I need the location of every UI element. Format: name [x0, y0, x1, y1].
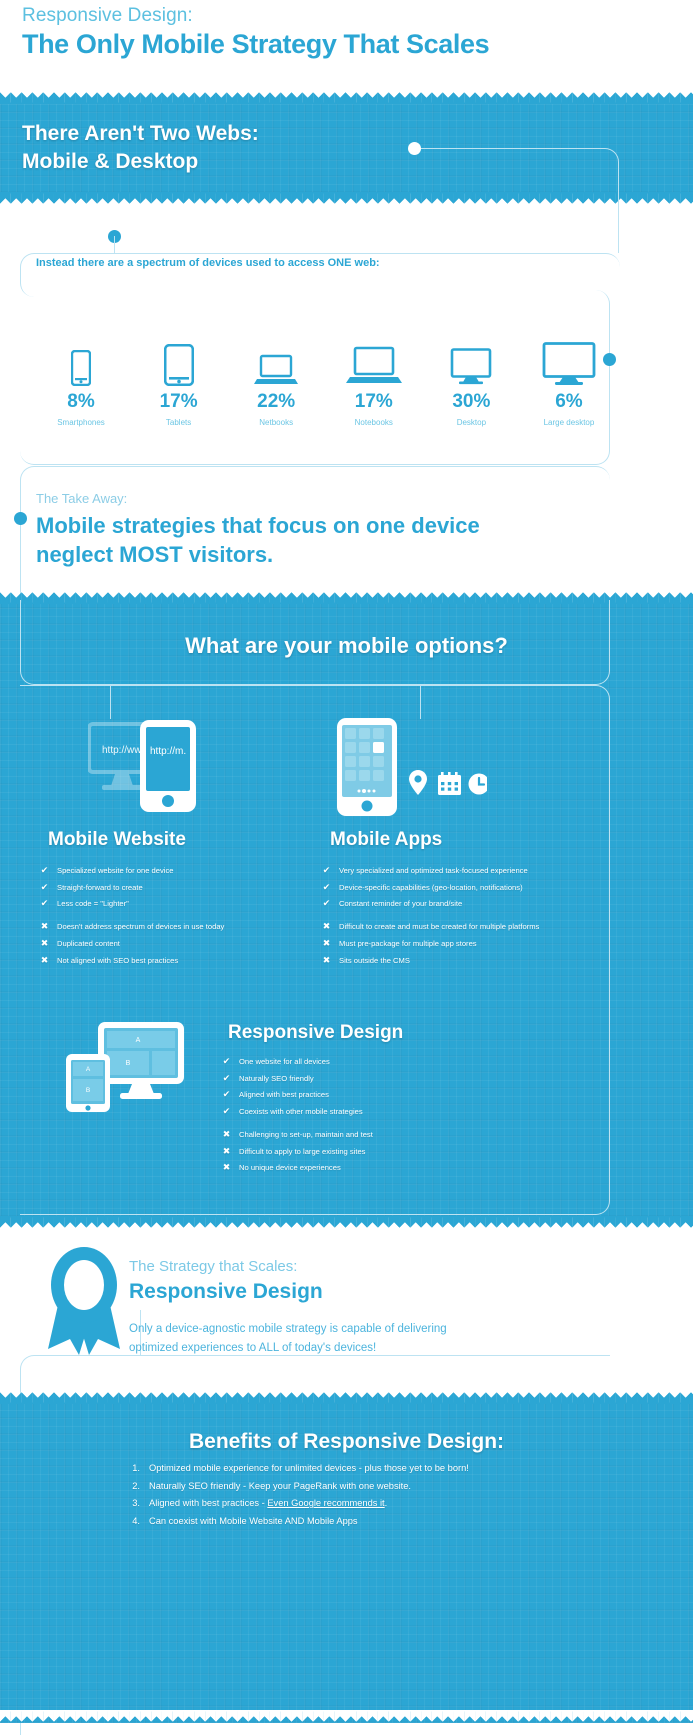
check-icon: ✔ — [222, 1057, 231, 1066]
device-item: 17% Tablets — [133, 338, 225, 427]
device-percent: 17% — [133, 391, 225, 413]
mobile-apps-title: Mobile Apps — [330, 829, 442, 851]
device-item: 22% Netbooks — [230, 338, 322, 427]
device-item: 30% Desktop — [425, 338, 517, 427]
mobile-apps-illustration — [337, 718, 487, 823]
zigzag-top-edge — [0, 1391, 693, 1404]
check-icon: ✔ — [222, 1074, 231, 1083]
list-text: Can coexist with Mobile Website AND Mobi… — [149, 1516, 358, 1528]
page-title: The Only Mobile Strategy That Scales — [22, 29, 489, 60]
strategy-body-line2: optimized experiences to ALL of today's … — [129, 1339, 559, 1358]
zigzag-top-edge — [0, 91, 693, 104]
pro-item: ✔Aligned with best practices — [222, 1090, 522, 1099]
cross-icon: ✖ — [322, 939, 331, 948]
strategy-kicker: The Strategy that Scales: — [129, 1258, 297, 1275]
tablet-icon — [133, 338, 225, 386]
pro-item: ✔Naturally SEO friendly — [222, 1074, 522, 1083]
desktop-icon — [425, 338, 517, 386]
con-item: ✖Not aligned with SEO best practices — [40, 956, 310, 965]
header: Responsive Design: The Only Mobile Strat… — [22, 5, 489, 60]
list-text: Naturally SEO friendly - Keep your PageR… — [149, 1481, 411, 1493]
cross-icon: ✖ — [322, 956, 331, 965]
mobile-apps-bullets: ✔Very specialized and optimized task-foc… — [322, 866, 622, 972]
mobile-website-illustration: http://www. http://m. — [88, 720, 238, 820]
benefits-heading: Benefits of Responsive Design: — [0, 1430, 693, 1454]
con-item: ✖Sits outside the CMS — [322, 956, 622, 965]
connector-dot-white-1 — [408, 142, 421, 155]
responsive-design-illustration: A B A B — [62, 1010, 207, 1135]
con-item: ✖No unique device experiences — [222, 1163, 522, 1172]
list-number: 4. — [128, 1516, 140, 1528]
svg-text:A: A — [86, 1066, 91, 1073]
notebook-icon — [328, 338, 420, 386]
svg-text:B: B — [86, 1087, 90, 1094]
list-item: 4. Can coexist with Mobile Website AND M… — [128, 1516, 588, 1528]
list-item: 2. Naturally SEO friendly - Keep your Pa… — [128, 1481, 588, 1493]
device-percent: 17% — [328, 391, 420, 413]
list-text: Optimized mobile experience for unlimite… — [149, 1463, 469, 1475]
device-item: 8% Smartphones — [35, 338, 127, 427]
pro-item: ✔Straight-forward to create — [40, 883, 310, 892]
two-webs-title-line2: Mobile & Desktop — [22, 148, 259, 176]
cross-icon: ✖ — [322, 922, 331, 931]
zigzag-bottom-edge-page — [0, 1710, 693, 1723]
instead-text: Instead there are a spectrum of devices … — [36, 257, 380, 269]
device-label: Smartphones — [35, 418, 127, 427]
pro-item: ✔Specialized website for one device — [40, 866, 310, 875]
list-text-wrap: Aligned with best practices - Even Googl… — [149, 1498, 387, 1510]
list-text: Aligned with best practices - — [149, 1498, 267, 1508]
connector-stub-1 — [114, 236, 115, 254]
con-item: ✖Doesn't address spectrum of devices in … — [40, 922, 310, 931]
list-number: 3. — [128, 1498, 140, 1510]
check-icon: ✔ — [322, 899, 331, 908]
device-label: Netbooks — [230, 418, 322, 427]
list-number: 2. — [128, 1481, 140, 1493]
takeaway-line2: neglect MOST visitors. — [36, 540, 480, 569]
pro-item: ✔Very specialized and optimized task-foc… — [322, 866, 622, 875]
device-percent: 30% — [425, 391, 517, 413]
con-item: ✖Challenging to set-up, maintain and tes… — [222, 1130, 522, 1139]
list-text-tail: . — [385, 1498, 388, 1508]
device-percent: 8% — [35, 391, 127, 413]
device-percent: 6% — [523, 391, 615, 413]
cross-icon: ✖ — [40, 922, 49, 931]
strategy-title: Responsive Design — [129, 1280, 323, 1304]
con-item: ✖Difficult to apply to large existing si… — [222, 1147, 522, 1156]
smartphone-icon — [35, 338, 127, 386]
check-icon: ✔ — [222, 1107, 231, 1116]
device-item: 6% Large desktop — [523, 338, 615, 427]
svg-text:B: B — [126, 1060, 131, 1067]
device-label: Desktop — [425, 418, 517, 427]
mobile-website-bullets: ✔Specialized website for one device ✔Str… — [40, 866, 310, 972]
cross-icon: ✖ — [222, 1163, 231, 1172]
cross-icon: ✖ — [222, 1130, 231, 1139]
pro-item: ✔Coexists with other mobile strategies — [222, 1107, 522, 1116]
header-kicker: Responsive Design: — [22, 5, 489, 27]
strategy-body-line1: Only a device-agnostic mobile strategy i… — [129, 1320, 559, 1339]
connector-path-upper — [414, 148, 619, 253]
list-item: 3. Aligned with best practices - Even Go… — [128, 1498, 588, 1510]
device-percent: 22% — [230, 391, 322, 413]
mobile-website-title: Mobile Website — [48, 829, 186, 851]
check-icon: ✔ — [222, 1090, 231, 1099]
benefits-list: 1. Optimized mobile experience for unlim… — [128, 1463, 588, 1533]
cross-icon: ✖ — [40, 956, 49, 965]
device-usage-chart: 8% Smartphones 17% Tablets 22% — [20, 338, 630, 427]
responsive-design-title: Responsive Design — [228, 1022, 403, 1044]
device-label: Notebooks — [328, 418, 420, 427]
connector-dot-blue-3 — [14, 512, 27, 525]
list-item: 1. Optimized mobile experience for unlim… — [128, 1463, 588, 1475]
check-icon: ✔ — [322, 883, 331, 892]
check-icon: ✔ — [322, 866, 331, 875]
google-recommends-link[interactable]: Even Google recommends it — [267, 1498, 384, 1508]
svg-text:http://m.: http://m. — [150, 746, 186, 757]
takeaway-title: Mobile strategies that focus on one devi… — [36, 511, 480, 570]
device-label: Large desktop — [523, 418, 615, 427]
con-item: ✖Duplicated content — [40, 939, 310, 948]
two-webs-title-line1: There Aren't Two Webs: — [22, 120, 259, 148]
ribbon-award-icon — [46, 1245, 122, 1360]
pro-item: ✔Less code = "Lighter" — [40, 899, 310, 908]
takeaway-kicker: The Take Away: — [36, 491, 127, 506]
check-icon: ✔ — [40, 883, 49, 892]
netbook-icon — [230, 338, 322, 386]
pro-item: ✔One website for all devices — [222, 1057, 522, 1066]
list-number: 1. — [128, 1463, 140, 1475]
large-desktop-icon — [523, 338, 615, 386]
check-icon: ✔ — [40, 866, 49, 875]
device-label: Tablets — [133, 418, 225, 427]
takeaway-line1: Mobile strategies that focus on one devi… — [36, 511, 480, 540]
check-icon: ✔ — [40, 899, 49, 908]
pro-item: ✔Device-specific capabilities (geo-locat… — [322, 883, 622, 892]
svg-text:A: A — [136, 1037, 141, 1044]
options-branch-box — [20, 600, 610, 685]
infographic-page: Responsive Design: The Only Mobile Strat… — [0, 0, 693, 1723]
strategy-body: Only a device-agnostic mobile strategy i… — [129, 1320, 559, 1358]
two-webs-title: There Aren't Two Webs: Mobile & Desktop — [22, 120, 259, 175]
con-item: ✖Must pre-package for multiple app store… — [322, 939, 622, 948]
responsive-design-bullets: ✔One website for all devices ✔Naturally … — [222, 1057, 522, 1180]
cross-icon: ✖ — [222, 1147, 231, 1156]
pro-item: ✔Constant reminder of your brand/site — [322, 899, 622, 908]
cross-icon: ✖ — [40, 939, 49, 948]
con-item: ✖Difficult to create and must be created… — [322, 922, 622, 931]
device-item: 17% Notebooks — [328, 338, 420, 427]
zigzag-bottom-edge — [0, 1216, 693, 1229]
